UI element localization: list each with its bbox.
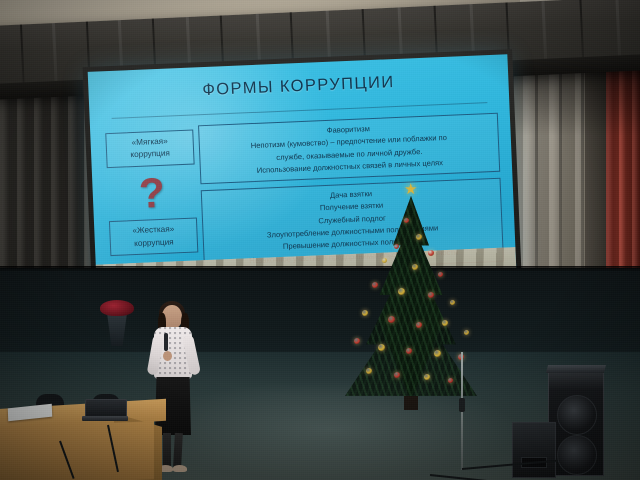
table-front: [0, 421, 154, 480]
tree-ornament: [388, 316, 395, 323]
tree-ornament: [434, 350, 441, 357]
tree-needles-texture: [336, 196, 486, 402]
presenter-hand: [163, 351, 172, 361]
stage-edge: [0, 266, 640, 271]
hard-label-line-2: коррупция: [115, 235, 193, 251]
star-icon: ★: [404, 182, 417, 197]
tree-ornament: [394, 244, 399, 249]
laptop: [82, 399, 128, 425]
christmas-tree: ★: [336, 182, 486, 402]
tree-ornament: [438, 272, 443, 277]
tree-ornament: [382, 258, 387, 263]
soft-label-line-2: коррупция: [111, 147, 189, 163]
flower-vase: [107, 313, 127, 346]
tree-trunk: [404, 396, 418, 410]
tree-ornament: [366, 368, 372, 374]
tree-ornament: [372, 282, 378, 288]
speaker-driver: [557, 435, 597, 475]
tree-ornament: [428, 250, 434, 256]
speaker-driver: [557, 395, 597, 435]
slide-left-column: «Мягкая» коррупция ? «Жесткая» коррупция: [106, 126, 197, 262]
tree-ornament: [442, 320, 448, 326]
tree-ornament: [416, 322, 422, 328]
mic-stand-clip: [459, 398, 465, 412]
red-flowers: [100, 300, 134, 316]
speaker-top: [546, 365, 606, 373]
tree-ornament: [448, 378, 453, 383]
tree-ornament: [428, 292, 434, 298]
tree-ornament: [394, 372, 400, 378]
flower-arrangement: [100, 300, 134, 346]
soft-corruption-label: «Мягкая» коррупция: [105, 130, 194, 168]
tree-ornament: [354, 338, 360, 344]
tree-ornament: [406, 348, 412, 354]
tree-foliage: [336, 196, 486, 402]
tree-ornament: [450, 300, 455, 305]
tree-ornament: [416, 234, 422, 240]
tree-ornament: [378, 344, 385, 351]
tree-ornament: [424, 374, 430, 380]
microphone-icon: [164, 333, 168, 351]
presenter-leg-right: [173, 433, 183, 467]
laptop-keyboard: [82, 416, 128, 421]
tree-ornament: [398, 288, 405, 295]
tree-ornament: [464, 330, 469, 335]
tree-ornament: [412, 264, 418, 270]
tree-ornament: [362, 310, 368, 316]
hard-corruption-label: «Жесткая» коррупция: [109, 218, 198, 256]
auditorium-photo: ФОРМЫ КОРРУПЦИИ «Мягкая» коррупция ? «Же…: [0, 0, 640, 480]
tree-ornament: [404, 218, 409, 223]
question-mark-graphic: ?: [138, 175, 165, 210]
pa-speaker-small: [512, 422, 556, 478]
soft-corruption-list: Фаворитизм Непотизм (кумовство) – предпо…: [198, 113, 500, 185]
presenter-shoe-right: [173, 465, 187, 472]
